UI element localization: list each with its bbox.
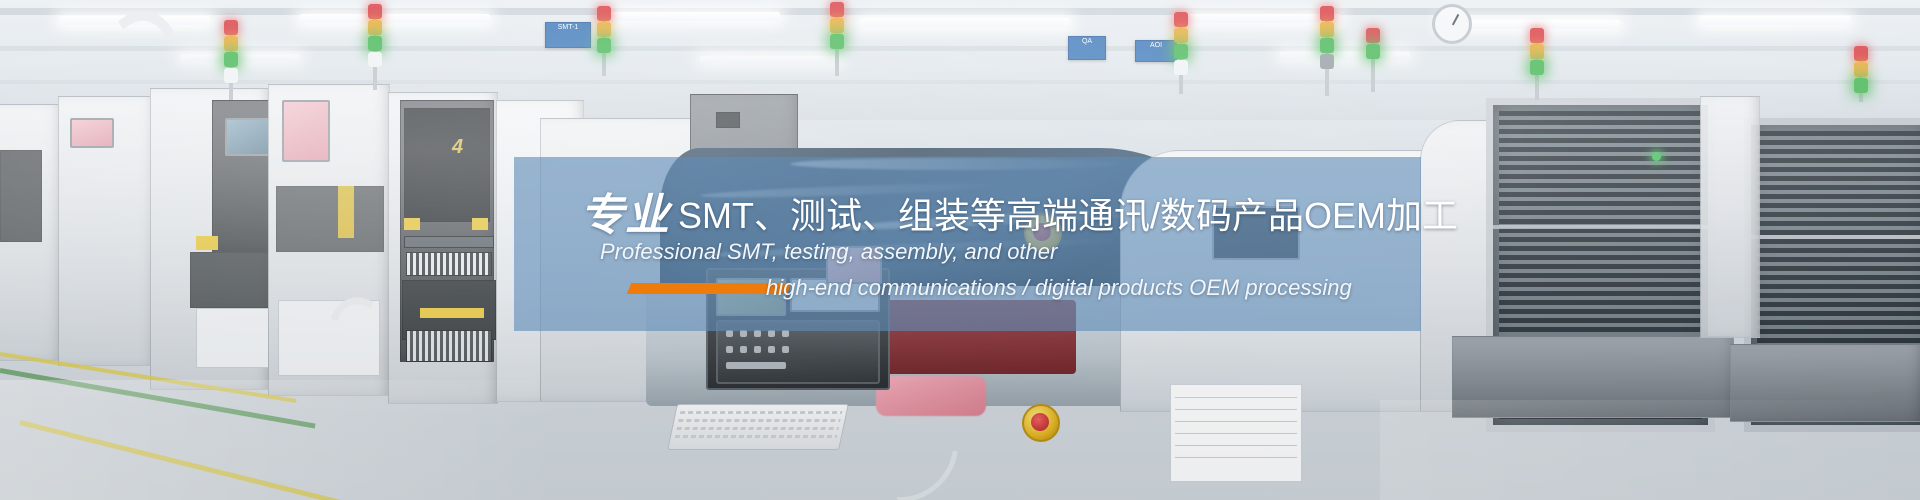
stack-light-amber [1530,44,1544,59]
stack-light-amber [597,22,611,37]
feeder-bank [276,186,384,252]
doc-line [1175,433,1297,434]
ceiling-light [700,56,840,63]
safety-marker [472,218,488,230]
stack-light-green [1320,38,1334,53]
stack-light-white [224,68,238,83]
stack-light-green [1530,60,1544,75]
stack-light-amber [1854,62,1868,77]
stack-light [1854,46,1868,102]
key-row [676,427,839,430]
safety-marker [404,218,420,230]
banner-headline: 专业SMT、测试、组装等高端通讯/数码产品OEM加工 [580,179,1458,243]
ceiling-beam [0,46,1920,51]
stack-light [1174,12,1188,94]
stack-light-green [1854,78,1868,93]
wall-clock [1432,4,1472,44]
stack-light [1530,28,1544,100]
hmi-button[interactable] [726,346,733,353]
stack-light [224,20,238,100]
stack-light-green [830,34,844,49]
headline-rest: SMT、测试、组装等高端通讯/数码产品OEM加工 [678,195,1458,236]
hmi-button[interactable] [782,330,789,337]
hmi-button[interactable] [726,330,733,337]
ceiling-beam [0,8,1920,15]
stack-light-off [1320,54,1334,69]
hanging-sign: SMT-1 [545,22,591,48]
hanging-sign: QA [1068,36,1106,60]
ceiling-light [610,12,780,21]
machine [1700,96,1760,338]
keyboard[interactable] [667,404,849,450]
hmi-button[interactable] [754,346,761,353]
stack-light-amber [224,36,238,51]
machine-rail [404,236,494,248]
sign-label: QA [1082,38,1092,45]
stack-light-amber [368,20,382,35]
machine-number: 4 [452,136,463,159]
hanging-sign: AOI [1135,40,1177,62]
key-row [678,419,841,422]
rack-status-light [1652,152,1661,161]
stack-light-red [1530,28,1544,43]
stack-light-red [1854,46,1868,61]
stack-light-red [830,2,844,17]
machine-screen [282,100,330,162]
safety-marker [196,236,218,250]
headline-emphasis: 专业 [580,191,670,240]
stack-light-green [368,36,382,51]
stack-light-green [224,52,238,67]
feeder-bank [406,252,492,276]
banner-subtitle-line-1: Professional SMT, testing, assembly, and… [600,239,1057,265]
sign-label: AOI [1150,42,1162,49]
sign-label: SMT-1 [558,24,579,31]
stack-light [830,2,844,76]
ceiling-light [1280,52,1410,59]
hmi-button[interactable] [754,330,761,337]
stack-light-red [224,20,238,35]
feeder-bank [406,330,492,362]
ceiling-light [180,54,300,61]
rack-shelf [1493,225,1708,229]
hmi-button[interactable] [768,330,775,337]
stack-light-red [1366,28,1380,43]
hmi-button[interactable] [768,346,775,353]
stack-light-amber [1320,22,1334,37]
stack-light-green [597,38,611,53]
stack-light-red [368,4,382,19]
rack-shelf [1751,235,1920,239]
machine-port [716,112,740,128]
stack-light-white [1174,60,1188,75]
stack-light [597,6,611,76]
machine-panel [404,108,490,222]
process-document [1170,384,1302,482]
ceiling-light [300,14,490,23]
ceiling-light [1180,14,1340,23]
key-row [675,435,838,438]
doc-line [1175,421,1297,422]
stack-light-red [1174,12,1188,27]
stack-light-white [368,52,382,67]
banner-subtitle-line-2: high-end communications / digital produc… [766,275,1352,301]
safety-marker [420,308,484,318]
stack-light-amber [830,18,844,33]
estop-inner [1031,413,1049,431]
stack-light-red [1320,6,1334,21]
stack-light-red [597,6,611,21]
hmi-button[interactable] [740,346,747,353]
stack-light [368,4,382,90]
doc-line [1175,409,1297,410]
key-row [680,411,843,414]
floor-reflection [1380,400,1920,500]
overlay-content: 专业SMT、测试、组装等高端通讯/数码产品OEM加工 Professional … [514,157,1421,331]
hmi-button[interactable] [740,330,747,337]
stack-light-amber [1174,28,1188,43]
hmi-button[interactable] [782,346,789,353]
ceiling-light [1700,16,1850,25]
machine-panel [0,150,42,242]
banner-text-overlay: 专业SMT、测试、组装等高端通讯/数码产品OEM加工 Professional … [514,157,1421,331]
emergency-stop-button[interactable] [1022,404,1060,442]
machine-screen [70,118,114,148]
safety-marker [338,186,354,238]
ceiling-light [860,18,1070,27]
floor-reflection [0,380,560,500]
stack-light-green [1366,44,1380,59]
stack-light [1320,6,1334,96]
doc-line [1175,397,1297,398]
doc-line [1175,457,1297,458]
doc-line [1175,445,1297,446]
stack-light [1366,28,1380,92]
stack-light-green [1174,44,1188,59]
banner-image: SMT-1 QA AOI 4 [0,0,1920,500]
hmi-button[interactable] [726,362,786,369]
